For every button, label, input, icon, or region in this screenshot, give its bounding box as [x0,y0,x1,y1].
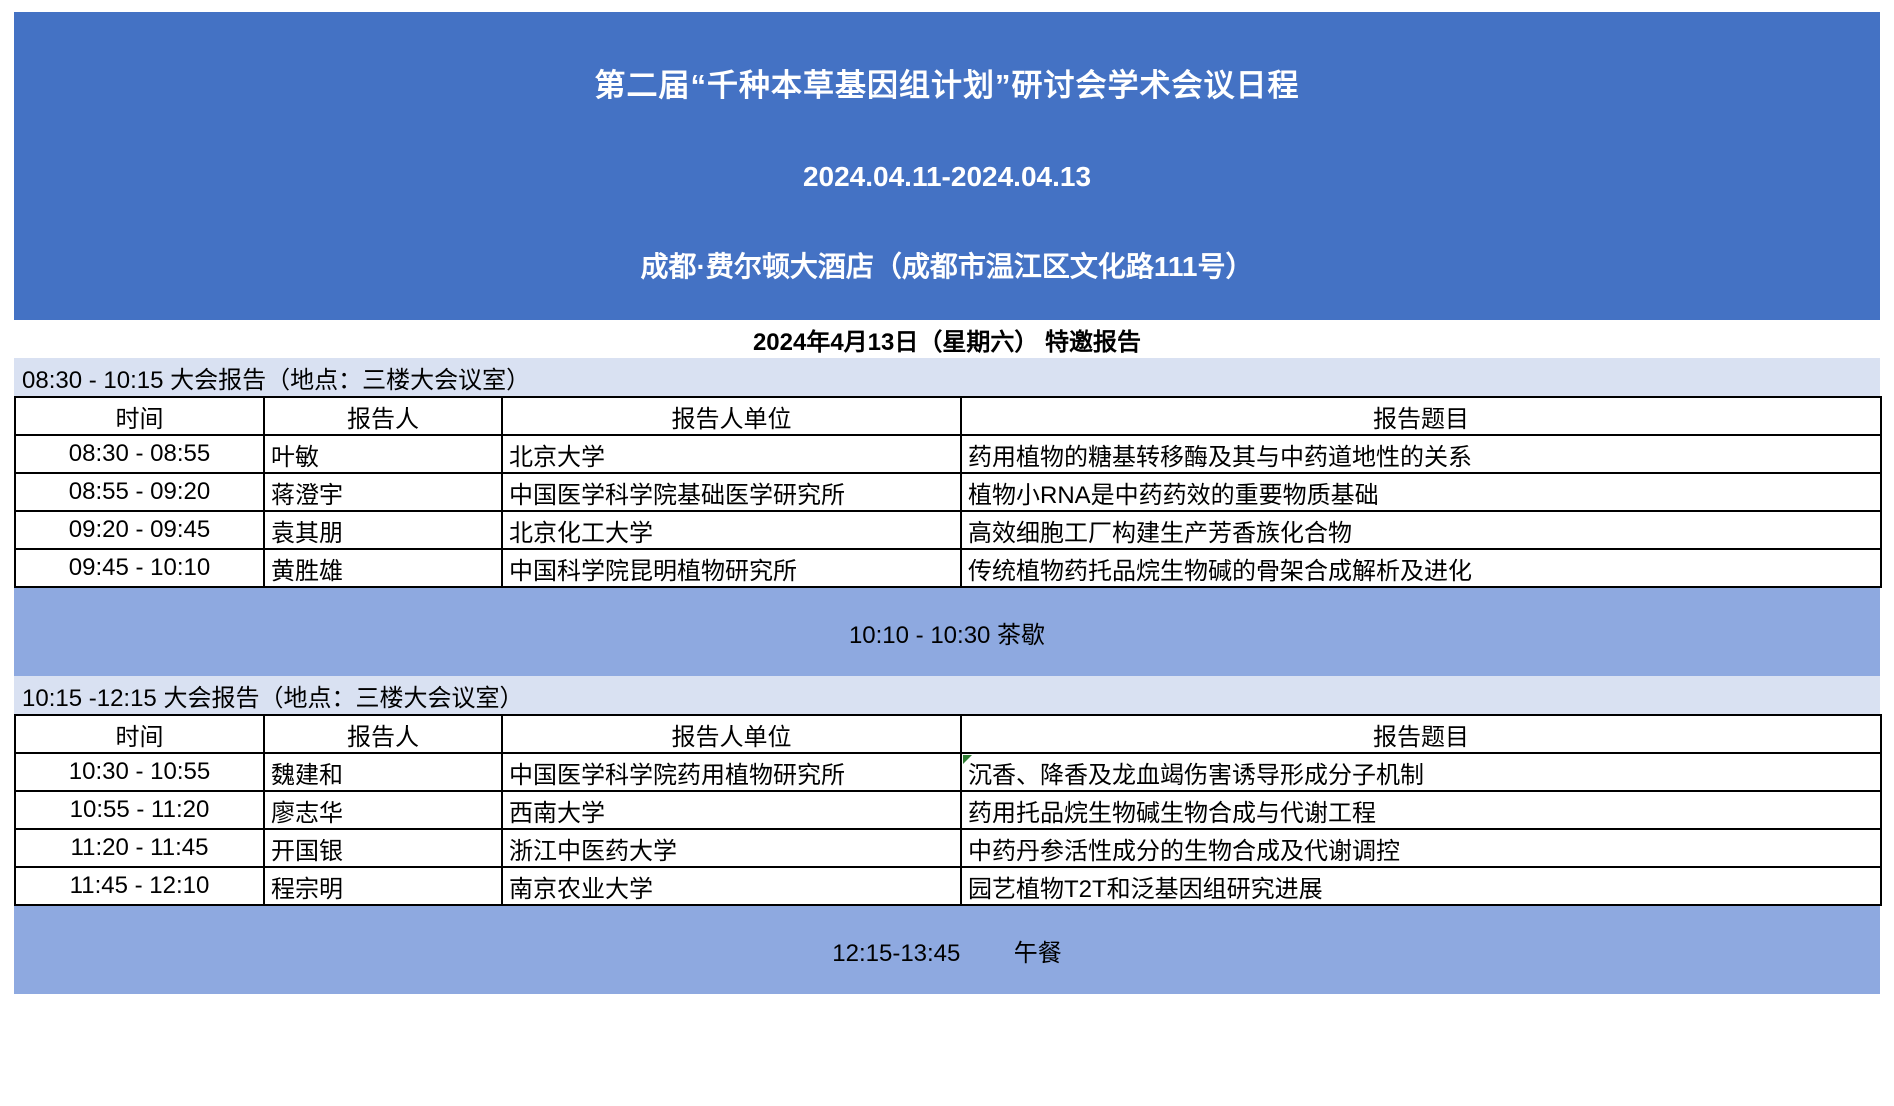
column-header-affiliation: 报告人单位 [502,397,961,435]
cell-title: 沉香、降香及龙血竭伤害诱导形成分子机制 [961,753,1881,791]
session-band-1: 08:30 - 10:15 大会报告（地点：三楼大会议室） [14,358,1880,396]
cell-time: 08:55 - 09:20 [15,473,264,511]
table-row: 10:30 - 10:55 魏建和 中国医学科学院药用植物研究所 沉香、降香及龙… [15,753,1881,791]
cell-title: 园艺植物T2T和泛基因组研究进展 [961,867,1881,905]
cell-title: 传统植物药托品烷生物碱的骨架合成解析及进化 [961,549,1881,587]
column-header-time: 时间 [15,715,264,753]
cell-time: 09:20 - 09:45 [15,511,264,549]
table-row: 08:55 - 09:20 蒋澄宇 中国医学科学院基础医学研究所 植物小RNA是… [15,473,1881,511]
cell-time: 11:45 - 12:10 [15,867,264,905]
cell-speaker: 开国银 [264,829,502,867]
table-row: 08:30 - 08:55 叶敏 北京大学 药用植物的糖基转移酶及其与中药道地性… [15,435,1881,473]
cell-speaker: 叶敏 [264,435,502,473]
cell-time: 09:45 - 10:10 [15,549,264,587]
cell-speaker: 程宗明 [264,867,502,905]
table-header-row: 时间 报告人 报告人单位 报告题目 [15,715,1881,753]
cell-time: 10:55 - 11:20 [15,791,264,829]
column-header-title: 报告题目 [961,397,1881,435]
cell-affiliation: 西南大学 [502,791,961,829]
cell-time: 11:20 - 11:45 [15,829,264,867]
column-header-title: 报告题目 [961,715,1881,753]
cell-affiliation: 北京化工大学 [502,511,961,549]
table-row: 11:20 - 11:45 开国银 浙江中医药大学 中药丹参活性成分的生物合成及… [15,829,1881,867]
comment-indicator-icon [963,755,972,764]
cell-title-text: 沉香、降香及龙血竭伤害诱导形成分子机制 [968,762,1424,789]
column-header-affiliation: 报告人单位 [502,715,961,753]
cell-speaker: 蒋澄宇 [264,473,502,511]
cell-affiliation: 中国医学科学院基础医学研究所 [502,473,961,511]
schedule-page: 第二届“千种本草基因组计划”研讨会学术会议日程 2024.04.11-2024.… [0,0,1894,1106]
lunch-break-row: 12:15-13:45 午餐 [14,906,1880,994]
column-header-time: 时间 [15,397,264,435]
conference-title: 第二届“千种本草基因组计划”研讨会学术会议日程 [595,60,1300,105]
schedule-table-1: 时间 报告人 报告人单位 报告题目 08:30 - 08:55 叶敏 北京大学 … [14,396,1882,588]
session-band-2: 10:15 -12:15 大会报告（地点：三楼大会议室） [14,676,1880,714]
cell-title: 药用托品烷生物碱生物合成与代谢工程 [961,791,1881,829]
cell-affiliation: 浙江中医药大学 [502,829,961,867]
cell-title: 高效细胞工厂构建生产芳香族化合物 [961,511,1881,549]
conference-banner: 第二届“千种本草基因组计划”研讨会学术会议日程 2024.04.11-2024.… [14,12,1880,320]
cell-affiliation: 北京大学 [502,435,961,473]
column-header-speaker: 报告人 [264,397,502,435]
cell-title: 中药丹参活性成分的生物合成及代谢调控 [961,829,1881,867]
cell-affiliation: 南京农业大学 [502,867,961,905]
day-header: 2024年4月13日（星期六） 特邀报告 [14,320,1880,358]
cell-speaker: 黄胜雄 [264,549,502,587]
cell-affiliation: 中国科学院昆明植物研究所 [502,549,961,587]
schedule-content: 2024年4月13日（星期六） 特邀报告 08:30 - 10:15 大会报告（… [14,320,1880,994]
table-row: 09:20 - 09:45 袁其朋 北京化工大学 高效细胞工厂构建生产芳香族化合… [15,511,1881,549]
cell-time: 10:30 - 10:55 [15,753,264,791]
cell-affiliation: 中国医学科学院药用植物研究所 [502,753,961,791]
table-row: 09:45 - 10:10 黄胜雄 中国科学院昆明植物研究所 传统植物药托品烷生… [15,549,1881,587]
conference-venue: 成都·费尔顿大酒店（成都市温江区文化路111号） [641,245,1254,285]
cell-title: 药用植物的糖基转移酶及其与中药道地性的关系 [961,435,1881,473]
table-row: 10:55 - 11:20 廖志华 西南大学 药用托品烷生物碱生物合成与代谢工程 [15,791,1881,829]
cell-speaker: 廖志华 [264,791,502,829]
tea-break-row: 10:10 - 10:30 茶歇 [14,588,1880,676]
cell-title: 植物小RNA是中药药效的重要物质基础 [961,473,1881,511]
schedule-table-2: 时间 报告人 报告人单位 报告题目 10:30 - 10:55 魏建和 中国医学… [14,714,1882,906]
cell-speaker: 袁其朋 [264,511,502,549]
column-header-speaker: 报告人 [264,715,502,753]
conference-dates: 2024.04.11-2024.04.13 [803,161,1091,193]
cell-time: 08:30 - 08:55 [15,435,264,473]
table-header-row: 时间 报告人 报告人单位 报告题目 [15,397,1881,435]
table-row: 11:45 - 12:10 程宗明 南京农业大学 园艺植物T2T和泛基因组研究进… [15,867,1881,905]
cell-speaker: 魏建和 [264,753,502,791]
